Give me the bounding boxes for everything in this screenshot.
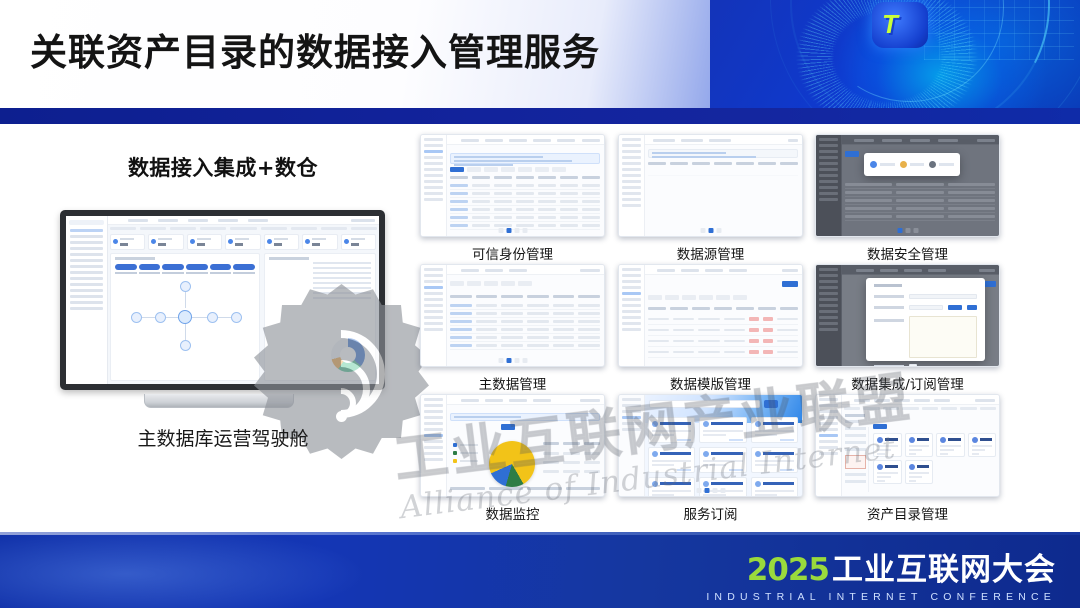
- grid-cell[interactable]: 主数据管理: [420, 264, 605, 393]
- sidebar-item: [70, 283, 103, 286]
- mini-table-body: [450, 182, 600, 230]
- stats-body: [543, 449, 600, 476]
- form-field[interactable]: [874, 364, 977, 367]
- search-button[interactable]: [764, 400, 778, 408]
- dashboard-flow-panel: [110, 253, 260, 381]
- dashboard-kpi-row: [110, 234, 376, 250]
- mini-sidebar: [619, 135, 645, 236]
- asset-card-grid: [873, 433, 996, 484]
- sidebar-item: [70, 259, 103, 262]
- pie-chart: [489, 441, 535, 487]
- tv-monitor-frame: [60, 210, 385, 390]
- dashboard-sidebar: [66, 216, 108, 384]
- screenshot-caption: 数据监控: [420, 503, 605, 523]
- form-field[interactable]: [874, 305, 977, 310]
- asset-card[interactable]: [873, 460, 902, 484]
- footer-glow-decoration: [0, 532, 700, 608]
- screenshot-caption: 数据源管理: [618, 243, 803, 263]
- service-card[interactable]: [648, 477, 695, 497]
- mini-pagination[interactable]: [498, 228, 527, 233]
- mini-sidebar: [816, 135, 842, 236]
- kpi-card: [302, 234, 337, 250]
- conference-name-cn: 工业互联网大会: [832, 544, 1056, 589]
- table-row: [648, 347, 798, 358]
- t-logo-glyph: T: [882, 12, 895, 36]
- grid-cell[interactable]: 数据模版管理: [618, 264, 803, 393]
- kpi-card: [148, 234, 183, 250]
- table-row: [648, 336, 798, 347]
- service-card[interactable]: [699, 477, 746, 497]
- sidebar-search: [69, 220, 104, 225]
- asset-card[interactable]: [936, 433, 965, 457]
- asset-card[interactable]: [905, 433, 934, 457]
- mini-toolbar: [450, 281, 600, 286]
- mini-info-banner: [450, 413, 600, 421]
- footer-stats: [450, 487, 600, 490]
- tv-stand: [144, 394, 294, 408]
- highlighted-filter[interactable]: [845, 455, 866, 469]
- t-logo-icon: T: [872, 2, 928, 48]
- left-panel-caption: 主数据库运营驾驶舱: [58, 424, 388, 451]
- left-panel: 数据接入集成+数仓: [58, 152, 388, 182]
- table-row: [845, 197, 995, 205]
- primary-button[interactable]: [845, 151, 859, 157]
- table-row: [543, 449, 600, 458]
- slide-body: 数据接入集成+数仓: [0, 124, 1080, 532]
- kpi-card: [264, 234, 299, 250]
- screenshot-caption: 数据集成/订阅管理: [815, 373, 1000, 393]
- sidebar-item: [70, 301, 103, 304]
- mini-topbar: [447, 395, 604, 405]
- table-row: [450, 326, 600, 334]
- kpi-card: [110, 234, 145, 250]
- sidebar-item: [70, 247, 103, 250]
- sidebar-item: [70, 271, 103, 274]
- mini-toolbar: [450, 167, 600, 172]
- screenshot-caption: 数据模版管理: [618, 373, 803, 393]
- screenshot-caption: 数据安全管理: [815, 243, 1000, 263]
- mini-pagination[interactable]: [498, 358, 527, 363]
- options-modal[interactable]: [864, 153, 960, 176]
- table-row: [450, 206, 600, 214]
- kpi-card: [225, 234, 260, 250]
- sidebar-item: [70, 265, 103, 268]
- table-row: [450, 198, 600, 206]
- mini-table-header: [648, 162, 798, 165]
- form-field[interactable]: [874, 294, 977, 299]
- donut-chart: [331, 338, 365, 372]
- screenshot-thumbnail[interactable]: [618, 264, 803, 367]
- grid-row: 可信身份管理: [420, 134, 1020, 264]
- option-card[interactable]: [929, 160, 954, 169]
- mini-topbar: [645, 135, 802, 145]
- service-card[interactable]: [751, 417, 798, 443]
- mini-filter-row: [648, 295, 798, 300]
- dashboard-topbar: [108, 216, 379, 225]
- table-row: [450, 182, 600, 190]
- conference-name-en: INDUSTRIAL INTERNET CONFERENCE: [706, 591, 1056, 603]
- primary-button[interactable]: [873, 424, 887, 429]
- service-card[interactable]: [699, 417, 746, 443]
- mini-pagination[interactable]: [700, 228, 721, 233]
- header-tech-graphic: CBI T: [710, 0, 1080, 108]
- service-card[interactable]: [751, 447, 798, 473]
- asset-card[interactable]: [905, 460, 934, 484]
- mini-topbar: [645, 265, 802, 275]
- mini-pagination[interactable]: [696, 488, 725, 493]
- mini-topbar: [447, 135, 604, 145]
- asset-card[interactable]: [968, 433, 997, 457]
- table-row: [450, 342, 600, 350]
- flow-pill-row: [115, 264, 255, 270]
- mini-table-body: [450, 302, 600, 350]
- mini-tabs[interactable]: [844, 407, 996, 410]
- grid-cell[interactable]: 数据监控: [420, 394, 605, 523]
- filter-sidebar: [845, 427, 869, 492]
- table-row: [450, 214, 600, 222]
- section-sublabel: [845, 420, 859, 423]
- mini-sidebar: [619, 265, 645, 366]
- screenshot-thumbnail[interactable]: [618, 134, 803, 237]
- mini-table-header: [450, 176, 600, 179]
- mini-sidebar: [619, 395, 645, 496]
- mini-sidebar: [421, 265, 447, 366]
- table-row: [845, 205, 995, 213]
- grid-cell[interactable]: 数据集成/订阅管理: [815, 264, 1000, 393]
- sidebar-item: [70, 295, 103, 298]
- table-row: [648, 168, 798, 176]
- left-panel-heading: 数据接入集成+数仓: [58, 152, 388, 182]
- primary-button[interactable]: [501, 424, 515, 430]
- footer-top-edge: [0, 532, 1080, 535]
- mini-table-header: [648, 307, 798, 310]
- dashboard-stats-panel: [264, 253, 376, 381]
- sidebar-item: [70, 307, 103, 310]
- service-card-grid: [648, 417, 798, 497]
- table-row: [450, 190, 600, 198]
- grid-cell[interactable]: 资产目录管理: [815, 394, 1000, 523]
- asset-card[interactable]: [873, 433, 902, 457]
- mini-sidebar: [816, 395, 842, 496]
- table-row: [450, 318, 600, 326]
- screenshot-thumbnail[interactable]: [618, 394, 803, 497]
- modal-title: [874, 284, 902, 287]
- table-row: [450, 334, 600, 342]
- mini-sidebar: [421, 395, 447, 496]
- service-card[interactable]: [648, 417, 695, 443]
- form-modal[interactable]: [866, 278, 985, 361]
- mini-topbar: [447, 265, 604, 275]
- screenshot-thumbnail[interactable]: [815, 264, 1000, 367]
- presentation-slide: CBI T 关联资产目录的数据接入管理服务 数据接入集成+数仓: [0, 0, 1080, 608]
- mini-table-header: [450, 295, 600, 298]
- form-field[interactable]: [874, 316, 977, 358]
- kpi-card: [187, 234, 222, 250]
- dashboard-screenshot: [66, 216, 379, 384]
- mini-sidebar: [421, 135, 447, 236]
- grid-cell[interactable]: 数据安全管理: [815, 134, 1000, 263]
- sidebar-item: [70, 229, 103, 232]
- conference-logo: 2025 工业互联网大会 INDUSTRIAL INTERNET CONFERE…: [706, 544, 1056, 603]
- sidebar-item: [70, 289, 103, 292]
- mini-topbar: [842, 265, 999, 275]
- service-card[interactable]: [699, 447, 746, 473]
- table-row: [450, 302, 600, 310]
- service-card[interactable]: [751, 477, 798, 497]
- table-row: [543, 458, 600, 467]
- mini-pagination[interactable]: [897, 228, 918, 233]
- header-accent-band: [0, 108, 1080, 124]
- sidebar-item: [70, 241, 103, 244]
- slide-header: CBI T 关联资产目录的数据接入管理服务: [0, 0, 1080, 108]
- primary-button[interactable]: [782, 281, 798, 287]
- sidebar-item: [70, 277, 103, 280]
- mini-sidebar: [816, 265, 842, 366]
- slide-footer: 2025 工业互联网大会 INDUSTRIAL INTERNET CONFERE…: [0, 532, 1080, 608]
- chart-legend: [453, 443, 481, 467]
- screenshot-thumbnail[interactable]: [420, 394, 605, 497]
- grid-cell[interactable]: 数据源管理: [618, 134, 803, 263]
- screenshot-thumbnail[interactable]: [420, 264, 605, 367]
- option-card[interactable]: [900, 160, 925, 169]
- screenshot-caption: 资产目录管理: [815, 503, 1000, 523]
- kpi-card: [341, 234, 376, 250]
- screenshot-caption: 主数据管理: [420, 373, 605, 393]
- mini-topbar: [842, 395, 999, 405]
- table-row: [648, 314, 798, 325]
- mini-table-body: [845, 181, 995, 221]
- table-row: [845, 181, 995, 189]
- mini-table-body: [648, 168, 798, 176]
- search-input[interactable]: [649, 400, 760, 408]
- table-row: [845, 189, 995, 197]
- table-row: [845, 213, 995, 221]
- grid-cell[interactable]: 可信身份管理: [420, 134, 605, 263]
- sidebar-item: [70, 253, 103, 256]
- screenshot-thumbnail[interactable]: [815, 394, 1000, 497]
- grid-row: 主数据管理: [420, 264, 1020, 394]
- mini-info-banner: [648, 149, 798, 158]
- grid-row: 数据监控: [420, 394, 1020, 524]
- option-card[interactable]: [870, 160, 895, 169]
- sidebar-item: [70, 235, 103, 238]
- screenshot-caption: 服务订阅: [618, 503, 803, 523]
- table-row: [450, 310, 600, 318]
- section-label: [845, 414, 865, 417]
- service-card[interactable]: [648, 447, 695, 473]
- table-row: [648, 325, 798, 336]
- table-row: [543, 467, 600, 476]
- page-title: 关联资产目录的数据接入管理服务: [30, 22, 600, 76]
- conference-year: 2025: [747, 552, 829, 588]
- screenshot-thumbnail[interactable]: [815, 134, 1000, 237]
- stats-header: [543, 442, 600, 445]
- dashboard-tabs: [110, 226, 377, 232]
- screenshot-caption: 可信身份管理: [420, 243, 605, 263]
- screenshot-thumbnail[interactable]: [420, 134, 605, 237]
- stats-lines: [313, 262, 371, 302]
- mini-table-body: [648, 314, 798, 358]
- mini-topbar: [842, 135, 999, 145]
- mini-info-banner: [450, 153, 600, 164]
- grid-cell[interactable]: 服务订阅: [618, 394, 803, 523]
